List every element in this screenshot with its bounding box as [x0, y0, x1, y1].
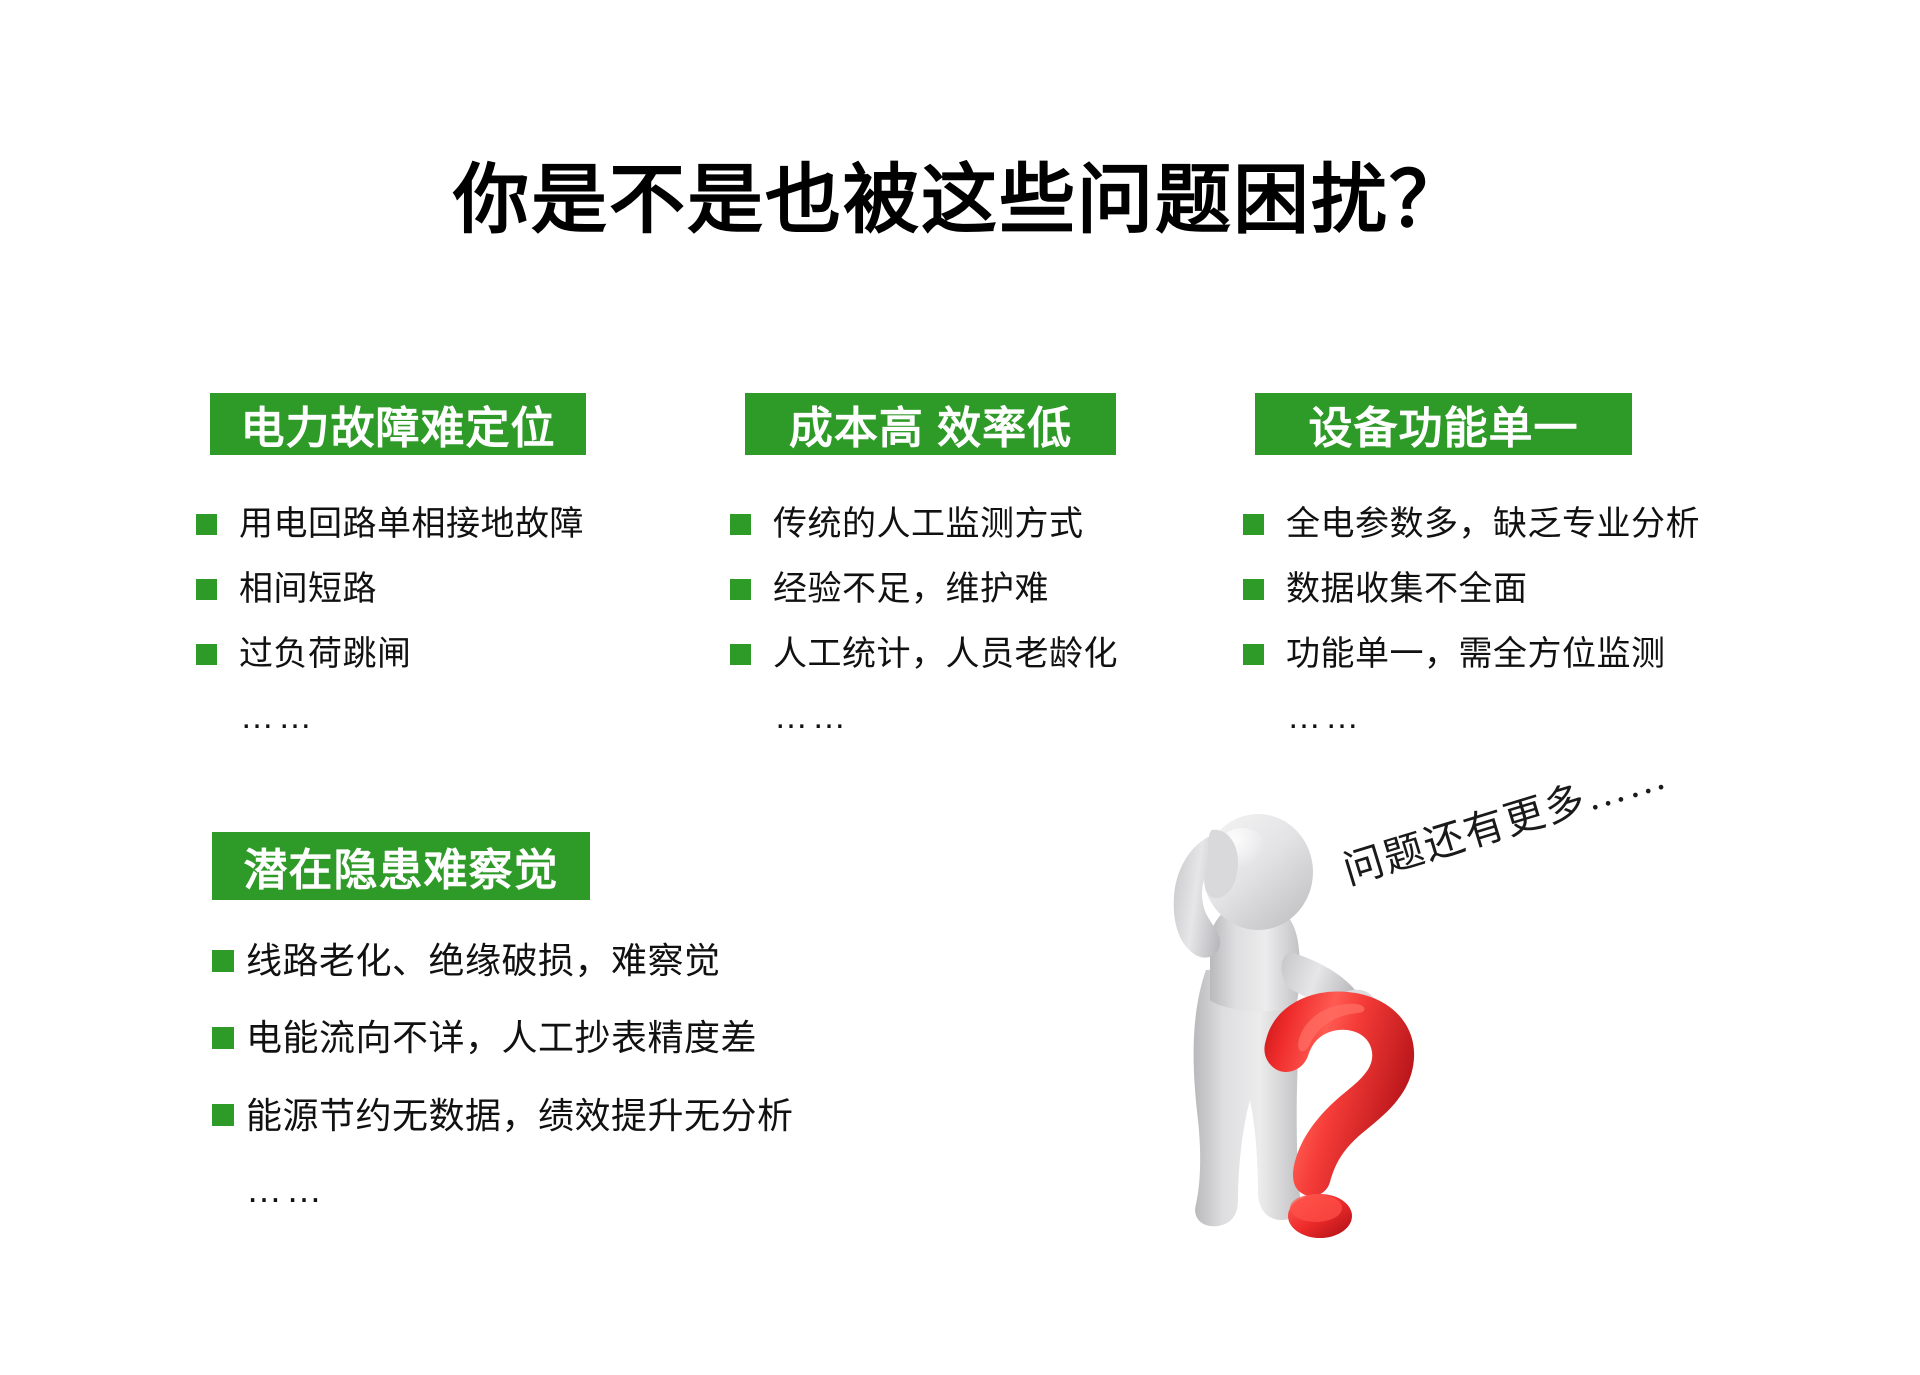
- list-item-label: 人工统计，人员老龄化: [773, 635, 1118, 674]
- bullet-square-icon: [730, 514, 751, 535]
- list-item-label: 全电参数多，缺乏专业分析: [1286, 505, 1700, 544]
- section-heading-label: 成本高 效率低: [789, 392, 1072, 456]
- list-item: 过负荷跳闸: [196, 635, 626, 674]
- bullet-list-high-cost: 传统的人工监测方式 经验不足，维护难 人工统计，人员老龄化 ……: [730, 505, 1150, 734]
- section-heading-high-cost: 成本高 效率低: [745, 393, 1116, 455]
- ellipsis-more: ……: [774, 700, 1150, 734]
- bullet-list-single-function: 全电参数多，缺乏专业分析 数据收集不全面 功能单一，需全方位监测 ……: [1243, 505, 1773, 734]
- bullet-list-hidden-danger: 线路老化、绝缘破损，难察觉 电能流向不详，人工抄表精度差 能源节约无数据，绩效提…: [212, 940, 852, 1208]
- list-item-label: 线路老化、绝缘破损，难察觉: [246, 940, 721, 981]
- list-item-label: 过负荷跳闸: [239, 635, 412, 674]
- bullet-square-icon: [196, 514, 217, 535]
- section-heading-label: 设备功能单一: [1309, 392, 1579, 456]
- list-item: 传统的人工监测方式: [730, 505, 1150, 544]
- list-item: 人工统计，人员老龄化: [730, 635, 1150, 674]
- section-heading-hidden-danger: 潜在隐患难察觉: [212, 832, 590, 900]
- question-mark-dot-highlight: [1290, 1194, 1342, 1222]
- bullet-list-power-fault: 用电回路单相接地故障 相间短路 过负荷跳闸 ……: [196, 505, 626, 734]
- bullet-square-icon: [196, 579, 217, 600]
- list-item: 数据收集不全面: [1243, 570, 1773, 609]
- list-item-label: 相间短路: [239, 570, 377, 609]
- slide-canvas: 你是不是也被这些问题困扰？ 电力故障难定位 用电回路单相接地故障 相间短路 过负…: [0, 0, 1920, 1375]
- section-heading-label: 潜在隐患难察觉: [244, 834, 559, 898]
- bullet-square-icon: [212, 950, 234, 972]
- bullet-square-icon: [730, 579, 751, 600]
- bullet-square-icon: [1243, 644, 1264, 665]
- bullet-square-icon: [1243, 579, 1264, 600]
- bullet-square-icon: [212, 1104, 234, 1126]
- bullet-square-icon: [730, 644, 751, 665]
- list-item: 全电参数多，缺乏专业分析: [1243, 505, 1773, 544]
- bullet-square-icon: [196, 644, 217, 665]
- section-heading-power-fault: 电力故障难定位: [210, 393, 586, 455]
- list-item-label: 用电回路单相接地故障: [239, 505, 584, 544]
- list-item-label: 能源节约无数据，绩效提升无分析: [246, 1095, 794, 1136]
- list-item: 经验不足，维护难: [730, 570, 1150, 609]
- bullet-square-icon: [1243, 514, 1264, 535]
- list-item-label: 传统的人工监测方式: [773, 505, 1084, 544]
- section-heading-single-function: 设备功能单一: [1255, 393, 1632, 455]
- list-item-label: 电能流向不详，人工抄表精度差: [246, 1017, 757, 1058]
- list-item: 线路老化、绝缘破损，难察觉: [212, 940, 852, 981]
- list-item: 电能流向不详，人工抄表精度差: [212, 1017, 852, 1058]
- ellipsis-more: ……: [246, 1172, 852, 1208]
- list-item-label: 功能单一，需全方位监测: [1286, 635, 1666, 674]
- bullet-square-icon: [212, 1027, 234, 1049]
- list-item: 能源节约无数据，绩效提升无分析: [212, 1095, 852, 1136]
- list-item-label: 数据收集不全面: [1286, 570, 1528, 609]
- section-heading-label: 电力故障难定位: [241, 392, 556, 456]
- ellipsis-more: ……: [1287, 700, 1773, 734]
- ellipsis-more: ……: [240, 700, 626, 734]
- page-title: 你是不是也被这些问题困扰？: [0, 163, 1920, 239]
- list-item: 功能单一，需全方位监测: [1243, 635, 1773, 674]
- list-item-label: 经验不足，维护难: [773, 570, 1049, 609]
- list-item: 相间短路: [196, 570, 626, 609]
- list-item: 用电回路单相接地故障: [196, 505, 626, 544]
